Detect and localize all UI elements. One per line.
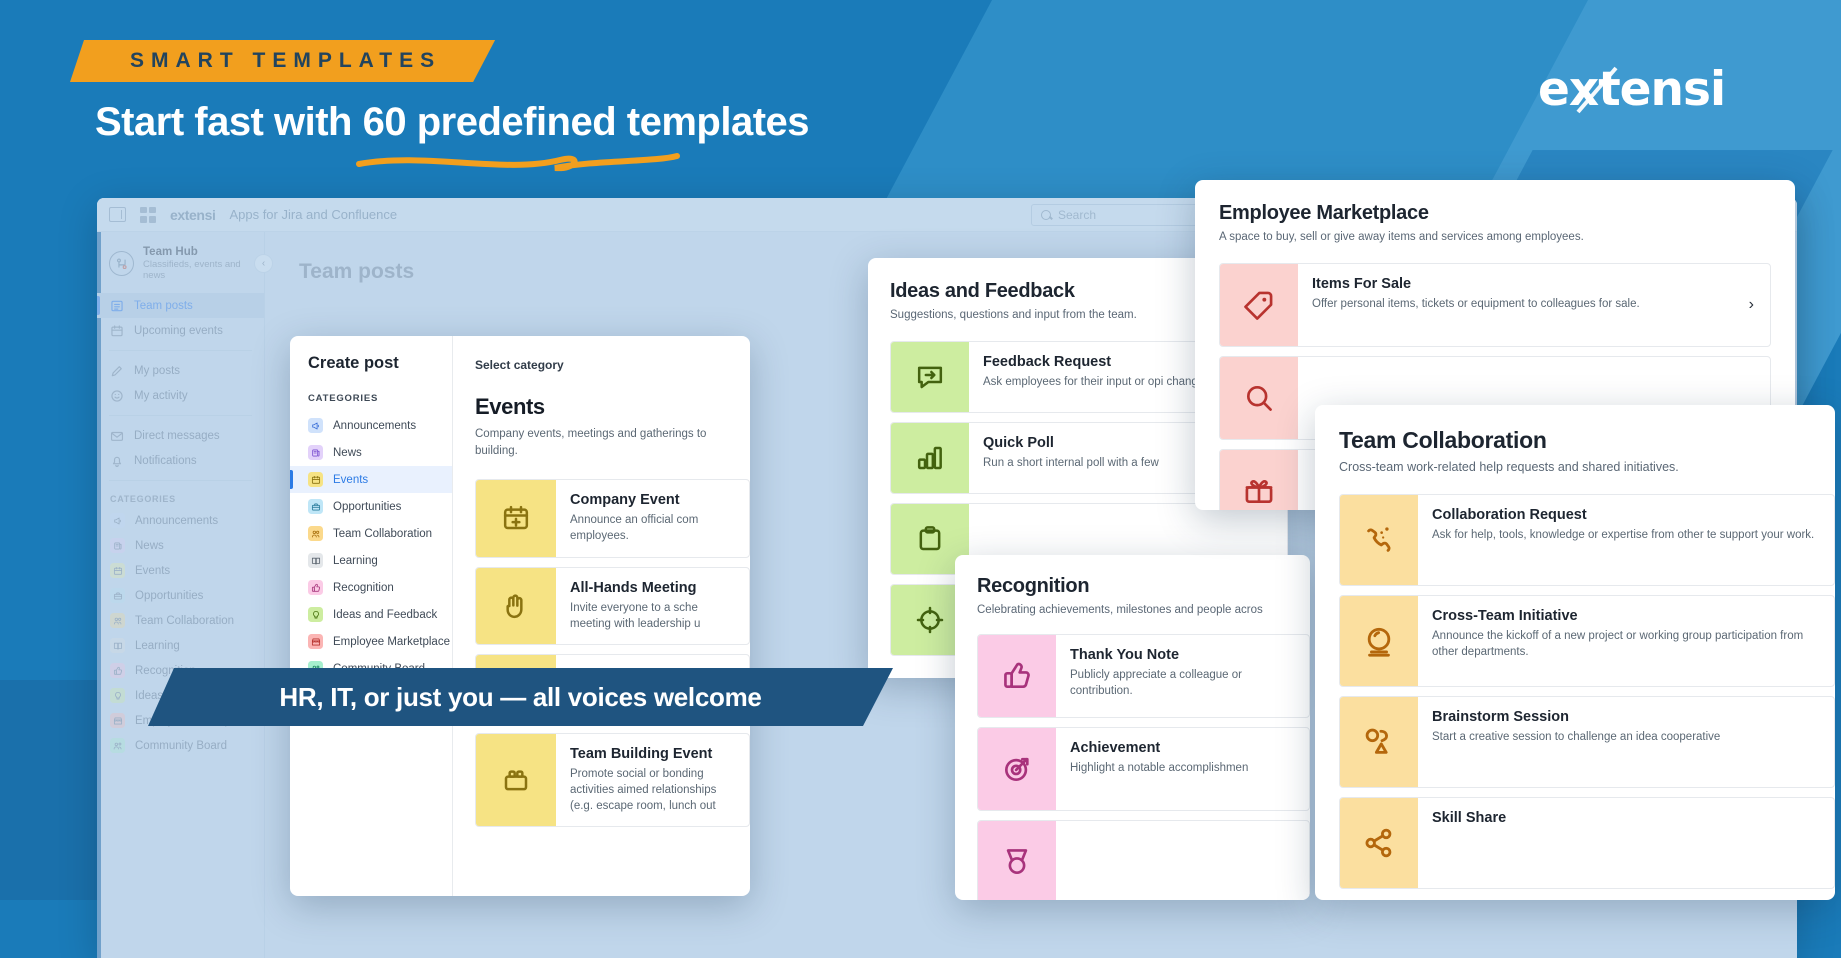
createpost-category-events[interactable]: Events (290, 466, 452, 493)
pricetag-icon (1220, 264, 1298, 346)
events-section-desc: Company events, meetings and gatherings … (475, 426, 750, 459)
template-title: Collaboration Request (1432, 507, 1820, 523)
template-desc: Promote social or bonding activities aim… (570, 766, 735, 814)
select-category-label: Select category (475, 358, 750, 372)
template-card[interactable]: Company EventAnnounce an official com em… (475, 479, 750, 557)
people-icon (110, 613, 125, 628)
underline-swoosh-icon (355, 148, 685, 178)
sidebar-category-label: Team Collaboration (135, 615, 234, 627)
briefcase-icon (308, 499, 323, 514)
space-desc: Classifieds, events and news (143, 259, 254, 281)
sidebar-category-label: Events (135, 565, 170, 577)
create-post-categories-label: CATEGORIES (290, 373, 452, 412)
book-icon (308, 553, 323, 568)
space-avatar-icon (109, 251, 134, 276)
sidebar-item-my-activity[interactable]: My activity (97, 383, 264, 408)
create-post-category-nav: Create post CATEGORIES AnnouncementsNews… (290, 336, 453, 896)
marketplace-panel-title: Employee Marketplace (1219, 202, 1771, 225)
sidebar-item-direct-messages[interactable]: Direct messages (97, 423, 264, 448)
recognition-panel-title: Recognition (977, 575, 1310, 598)
sidebar-item-label: Direct messages (134, 430, 220, 442)
template-desc: Start a creative session to challenge an… (1432, 729, 1820, 745)
collab-template-list: Collaboration RequestAsk for help, tools… (1339, 494, 1835, 889)
megaphone-icon (110, 513, 125, 528)
calendar-icon (110, 563, 125, 578)
sidebar-divider-1 (109, 350, 252, 351)
space-name: Team Hub (143, 246, 254, 258)
template-desc: Ask for help, tools, knowledge or expert… (1432, 527, 1820, 543)
create-post-title: Create post (290, 354, 452, 373)
sidebar-divider-3 (109, 480, 252, 481)
createpost-category-label: Announcements (333, 420, 416, 432)
lightbulb-icon (308, 607, 323, 622)
template-card[interactable]: AchievementHighlight a notable accomplis… (977, 727, 1310, 811)
template-card[interactable]: Items For SaleOffer personal items, tick… (1219, 263, 1771, 347)
sidebar-category-label: Announcements (135, 515, 218, 527)
pencil-icon (110, 364, 124, 378)
sidebar-category-events[interactable]: Events (97, 558, 264, 583)
sidebar-category-label: Learning (135, 640, 180, 652)
ribbon-label: SMART TEMPLATES (130, 49, 441, 73)
recognition-panel: Recognition Celebrating achievements, mi… (955, 555, 1310, 900)
topbar-extensi-logo: extensi (170, 207, 215, 223)
calendar-icon (110, 324, 124, 338)
createpost-category-label: Team Collaboration (333, 528, 432, 540)
bottom-ribbon: HR, IT, or just you — all voices welcome (148, 668, 893, 726)
sidebar-category-community-board[interactable]: Community Board (97, 733, 264, 758)
sidebar-item-my-posts[interactable]: My posts (97, 358, 264, 383)
list-icon (110, 299, 124, 313)
createpost-category-label: Employee Marketplace (333, 636, 450, 648)
sidebar-categories-label: CATEGORIES (97, 488, 264, 508)
smart-templates-ribbon: SMART TEMPLATES (70, 40, 495, 82)
template-title: Company Event (570, 492, 735, 508)
createpost-category-recognition[interactable]: Recognition (290, 574, 452, 601)
template-desc: Publicly appreciate a colleague or contr… (1070, 667, 1295, 699)
extensi-logo: extensi (1538, 60, 1753, 125)
template-card[interactable]: Team Building EventPromote social or bon… (475, 733, 750, 827)
sidebar-space-header[interactable]: Team Hub Classifieds, events and news (97, 242, 264, 293)
sidebar-category-announcements[interactable]: Announcements (97, 508, 264, 533)
sidebar-item-team-posts[interactable]: Team posts (97, 293, 264, 318)
recognition-panel-subtitle: Celebrating achievements, milestones and… (977, 604, 1310, 616)
team-collaboration-panel: Team Collaboration Cross-team work-relat… (1315, 405, 1835, 900)
template-title: Achievement (1070, 740, 1295, 756)
briefcase-icon (110, 588, 125, 603)
page-headline: Start fast with 60 predefined templates (95, 100, 809, 145)
template-card[interactable]: Collaboration RequestAsk for help, tools… (1339, 494, 1835, 586)
thumbsup-icon (308, 580, 323, 595)
bell-icon (110, 454, 124, 468)
search-icon (1041, 210, 1051, 220)
sidebar-category-label: News (135, 540, 164, 552)
template-card[interactable]: Skill Share (1339, 797, 1835, 889)
template-title: All-Hands Meeting (570, 580, 735, 596)
calendar-icon (308, 472, 323, 487)
storefront-icon (110, 713, 125, 728)
thumbsup-icon (978, 635, 1056, 717)
createpost-category-label: News (333, 447, 362, 459)
phone-ring-icon (1340, 495, 1418, 585)
sidebar-nav-secondary: My postsMy activity (97, 358, 264, 408)
target-arrow-icon (978, 728, 1056, 810)
people-icon (308, 526, 323, 541)
template-title: Items For Sale (1312, 276, 1735, 292)
envelope-icon (110, 429, 124, 443)
feedback-icon (891, 342, 969, 412)
createpost-category-learning[interactable]: Learning (290, 547, 452, 574)
collab-panel-subtitle: Cross-team work-related help requests an… (1339, 460, 1835, 474)
create-post-category-list: AnnouncementsNewsEventsOpportunitiesTeam… (290, 412, 452, 682)
template-card[interactable]: All-Hands MeetingInvite everyone to a sc… (475, 567, 750, 645)
topbar-product-title: Apps for Jira and Confluence (229, 207, 397, 222)
template-desc: Invite everyone to a sche meeting with l… (570, 600, 735, 632)
sidebar-item-notifications[interactable]: Notifications (97, 448, 264, 473)
sidebar-item-upcoming-events[interactable]: Upcoming events (97, 318, 264, 343)
sidebar-category-team-collaboration[interactable]: Team Collaboration (97, 608, 264, 633)
template-card[interactable]: Brainstorm SessionStart a creative sessi… (1339, 696, 1835, 788)
bottom-ribbon-text: HR, IT, or just you — all voices welcome (279, 682, 761, 713)
storefront-icon (308, 634, 323, 649)
community-icon (110, 738, 125, 753)
events-section-title: Events (475, 394, 750, 420)
book-icon (110, 638, 125, 653)
createpost-category-label: Opportunities (333, 501, 401, 513)
crystalball-icon (1340, 596, 1418, 686)
sidebar-item-label: My activity (134, 390, 188, 402)
shapes-icon (1340, 697, 1418, 787)
template-title: Team Building Event (570, 746, 735, 762)
sidebar-category-label: Community Board (135, 740, 227, 752)
share-icon (1340, 798, 1418, 888)
createpost-category-label: Events (333, 474, 368, 486)
gift-icon (1220, 450, 1298, 510)
svg-text:extensi: extensi (1538, 62, 1725, 117)
template-title: Brainstorm Session (1432, 709, 1820, 725)
template-title: Thank You Note (1070, 647, 1295, 663)
sidebar-category-opportunities[interactable]: Opportunities (97, 583, 264, 608)
createpost-category-label: Ideas and Feedback (333, 609, 437, 621)
sidebar-item-label: Upcoming events (134, 325, 223, 337)
template-desc: Announce the kickoff of a new project or… (1432, 628, 1820, 660)
template-title: Skill Share (1432, 810, 1820, 826)
sidebar-nav-tertiary: Direct messagesNotifications (97, 423, 264, 473)
createpost-category-ideas-and-feedback[interactable]: Ideas and Feedback (290, 601, 452, 628)
createpost-category-employee-marketplace[interactable]: Employee Marketplace (290, 628, 452, 655)
toybrick-icon (476, 734, 556, 826)
template-card[interactable]: Thank You NotePublicly appreciate a coll… (977, 634, 1310, 718)
search-icon (1220, 357, 1298, 439)
sidebar-category-news[interactable]: News (97, 533, 264, 558)
template-title: Cross-Team Initiative (1432, 608, 1820, 624)
recognition-template-list: Thank You NotePublicly appreciate a coll… (977, 634, 1310, 900)
template-desc: Announce an official com employees. (570, 512, 735, 544)
sidebar-item-label: Team posts (134, 300, 193, 312)
medal-icon (978, 821, 1056, 900)
events-template-list: Company EventAnnounce an official com em… (475, 479, 750, 827)
marketplace-panel-subtitle: A space to buy, sell or give away items … (1219, 231, 1771, 243)
collab-panel-title: Team Collaboration (1339, 427, 1835, 454)
news-icon (110, 538, 125, 553)
sidebar-category-learning[interactable]: Learning (97, 633, 264, 658)
news-icon (308, 445, 323, 460)
template-card[interactable]: Cross-Team InitiativeAnnounce the kickof… (1339, 595, 1835, 687)
template-card[interactable] (977, 820, 1310, 900)
template-desc: Highlight a notable accomplishmen (1070, 760, 1295, 776)
search-placeholder: Search (1058, 208, 1096, 222)
sidebar-divider-2 (109, 415, 252, 416)
createpost-category-team-collaboration[interactable]: Team Collaboration (290, 520, 452, 547)
createpost-category-label: Recognition (333, 582, 394, 594)
megaphone-icon (308, 418, 323, 433)
sidebar-item-label: My posts (134, 365, 180, 377)
app-switcher-icon[interactable] (140, 207, 156, 223)
calendar-plus-icon (476, 480, 556, 556)
lightbulb-icon (110, 688, 125, 703)
sidebar-nav-primary: Team postsUpcoming events (97, 293, 264, 343)
thumbsup-icon (110, 663, 125, 678)
barchart-icon (891, 423, 969, 493)
chevron-right-icon[interactable]: › (1749, 264, 1770, 346)
sidebar-item-label: Notifications (134, 455, 197, 467)
createpost-category-news[interactable]: News (290, 439, 452, 466)
create-post-panel: Create post CATEGORIES AnnouncementsNews… (290, 336, 750, 896)
create-post-templates: Select category Events Company events, m… (453, 336, 750, 896)
sidebar: Team Hub Classifieds, events and news ‹ … (97, 232, 265, 958)
hand-icon (476, 568, 556, 644)
template-desc: Offer personal items, tickets or equipme… (1312, 296, 1735, 312)
sidebar-toggle-icon[interactable] (109, 207, 126, 222)
createpost-category-label: Learning (333, 555, 378, 567)
createpost-category-announcements[interactable]: Announcements (290, 412, 452, 439)
createpost-category-opportunities[interactable]: Opportunities (290, 493, 452, 520)
smiley-icon (110, 389, 124, 403)
sidebar-category-label: Opportunities (135, 590, 203, 602)
